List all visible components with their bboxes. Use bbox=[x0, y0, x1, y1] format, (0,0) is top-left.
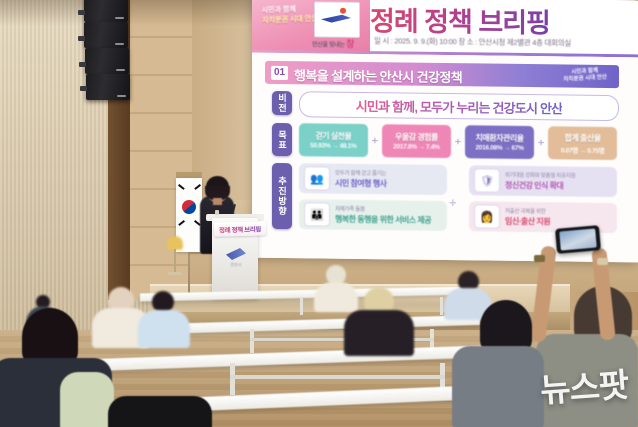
phone-screen bbox=[559, 228, 597, 250]
direction-card: 👥 모두가 함께 걷고 즐기는 시민 참여형 행사 bbox=[299, 163, 447, 195]
speaker-mount bbox=[78, 10, 85, 15]
plus-icon: + bbox=[449, 195, 457, 210]
direction-label-char2: 진 bbox=[278, 186, 285, 196]
plus-icon: + bbox=[455, 136, 461, 148]
table-leg bbox=[440, 297, 443, 315]
direction-card: 👪 치매가족 돌봄 행복한 동행을 위한 서비스 제공 bbox=[299, 199, 447, 231]
podium-sign: 정례 정책 브리핑 bbox=[214, 221, 266, 236]
direction-label: 추 진 방 향 bbox=[272, 163, 292, 229]
desk-lamp-shade bbox=[167, 236, 183, 250]
goal-value: 50.93% → 48.1% bbox=[310, 142, 356, 150]
goal-value: 0.07명 → 0.75명 bbox=[561, 144, 604, 155]
pregnant-icon: 👩 bbox=[474, 204, 500, 228]
table-crossbar bbox=[230, 375, 445, 379]
section-city-logo: 시민과 함께 자치분권 시대 안산 bbox=[557, 67, 614, 84]
goal-name: 합계 출산율 bbox=[565, 132, 601, 143]
goal-label-char1: 목 bbox=[278, 129, 285, 139]
line-array-speaker bbox=[84, 22, 128, 48]
section-title: 행복을 설계하는 안산시 건강정책 bbox=[294, 65, 462, 86]
goal-card: 우울감 경험률 2017.8% → 7.4% bbox=[382, 124, 451, 158]
briefing-banner: 시민과 함께 자치분권 시대 안산 안산을 빛내는 창 정례 정책 브리핑 일 … bbox=[252, 0, 638, 57]
family-icon: 👪 bbox=[304, 202, 330, 226]
plus-icon: + bbox=[372, 135, 378, 147]
vision-label-char1: 비 bbox=[278, 93, 285, 103]
table-shadow bbox=[150, 300, 460, 308]
briefing-title: 정례 정책 브리핑 bbox=[370, 0, 550, 40]
wristwatch bbox=[534, 255, 545, 262]
goal-value: 2017.8% → 7.4% bbox=[393, 143, 439, 151]
vision-label: 비 전 bbox=[272, 91, 292, 115]
group-people-icon: 👥 bbox=[304, 166, 330, 190]
direction-maintext: 정신건강 인식 확대 bbox=[505, 181, 575, 191]
logo-caption-pre: 안산을 빛내는 bbox=[312, 42, 345, 48]
desk-lamp-base bbox=[168, 272, 182, 275]
audience-torso-foreground bbox=[108, 396, 212, 427]
goal-name: 걷기 실천율 bbox=[315, 130, 351, 141]
podium-sign-text: 정례 정책 브리핑 bbox=[219, 223, 261, 234]
watermark: 뉴스팟 bbox=[538, 358, 629, 412]
goal-card: 합계 출산율 0.07명 → 0.75명 bbox=[548, 126, 617, 160]
direction-maintext: 행복한 동행을 위한 서비스 제공 bbox=[335, 215, 431, 225]
audience-torso bbox=[452, 346, 544, 427]
logo-swoosh-icon bbox=[321, 14, 351, 22]
audience-torso bbox=[314, 282, 358, 312]
press-briefing-photo: 시민과 함께 자치분권 시대 안산 안산을 빛내는 창 정례 정책 브리핑 일 … bbox=[0, 0, 638, 427]
speaker-mount bbox=[79, 62, 86, 67]
goal-value: 2016.08% → 67% bbox=[475, 144, 523, 152]
slide-section-header: 01 행복을 설계하는 안산시 건강정책 시민과 함께 자치분권 시대 안산 bbox=[265, 61, 619, 88]
taegeuk-icon bbox=[182, 200, 196, 214]
desk-lamp-stem bbox=[174, 249, 176, 273]
vision-box: 시민과 함께, 모두가 누리는 건강도시 안산 bbox=[299, 91, 619, 121]
goal-name: 우울감 경험률 bbox=[395, 131, 438, 143]
audience-torso bbox=[344, 310, 414, 356]
direction-card: 🛡 위기대응 강화와 맞춤형 치유지원 정신건강 인식 확대 bbox=[469, 165, 617, 197]
goal-card: 치매환자관리율 2016.08% → 67% bbox=[465, 125, 534, 159]
line-array-speaker bbox=[84, 0, 128, 22]
speaker-name-badge bbox=[215, 210, 219, 215]
section-number-badge: 01 bbox=[271, 65, 288, 79]
goal-card: 걷기 실천율 50.93% → 48.1% bbox=[299, 123, 368, 157]
logo-caption-mark: 창 bbox=[346, 39, 354, 49]
direction-label-char1: 추 bbox=[278, 176, 285, 186]
speaker-mount bbox=[78, 36, 85, 41]
direction-label-char4: 향 bbox=[278, 206, 285, 216]
audience-torso bbox=[138, 310, 190, 348]
audience-shoulder-foreground bbox=[60, 372, 114, 427]
logo-dot-icon bbox=[340, 8, 346, 14]
vision-label-char2: 전 bbox=[278, 103, 285, 113]
goal-label-char2: 표 bbox=[278, 139, 285, 149]
goal-label: 목 표 bbox=[272, 123, 292, 156]
ansan-city-logo bbox=[314, 1, 360, 38]
plus-icon: + bbox=[538, 137, 544, 149]
table-leg bbox=[230, 363, 235, 395]
speaker-neck bbox=[213, 198, 222, 205]
wood-wall-panel bbox=[130, 0, 192, 300]
vision-text: 시민과 함께, 모두가 누리는 건강도시 안산 bbox=[356, 95, 563, 117]
direction-maintext: 시민 참여형 행사 bbox=[335, 179, 386, 189]
smartphone-camera bbox=[555, 225, 601, 254]
line-array-speaker bbox=[86, 74, 130, 100]
wristband bbox=[597, 258, 608, 265]
direction-label-char3: 방 bbox=[278, 196, 285, 206]
line-array-speaker bbox=[85, 48, 129, 74]
briefing-subtitle: 일 시 : 2025. 9. 9.(화) 10:00 장 소 : 안산시청 제2… bbox=[374, 35, 571, 48]
goal-name: 치매환자관리율 bbox=[476, 132, 524, 144]
direction-maintext: 임신·출산 지원 bbox=[505, 217, 550, 227]
podium-emblem-caption: 안산시 bbox=[224, 262, 248, 268]
speaker-mount bbox=[80, 86, 87, 91]
logo-caption: 안산을 빛내는 창 bbox=[312, 36, 354, 50]
shield-lock-icon: 🛡 bbox=[474, 168, 500, 192]
table-leg bbox=[300, 297, 303, 315]
projection-screen: 시민과 함께 자치분권 시대 안산 안산을 빛내는 창 정례 정책 브리핑 일 … bbox=[252, 0, 638, 262]
goal-list: 걷기 실천율 50.93% → 48.1% + 우울감 경험률 2017.8% … bbox=[299, 123, 617, 160]
table-leg bbox=[250, 329, 254, 353]
